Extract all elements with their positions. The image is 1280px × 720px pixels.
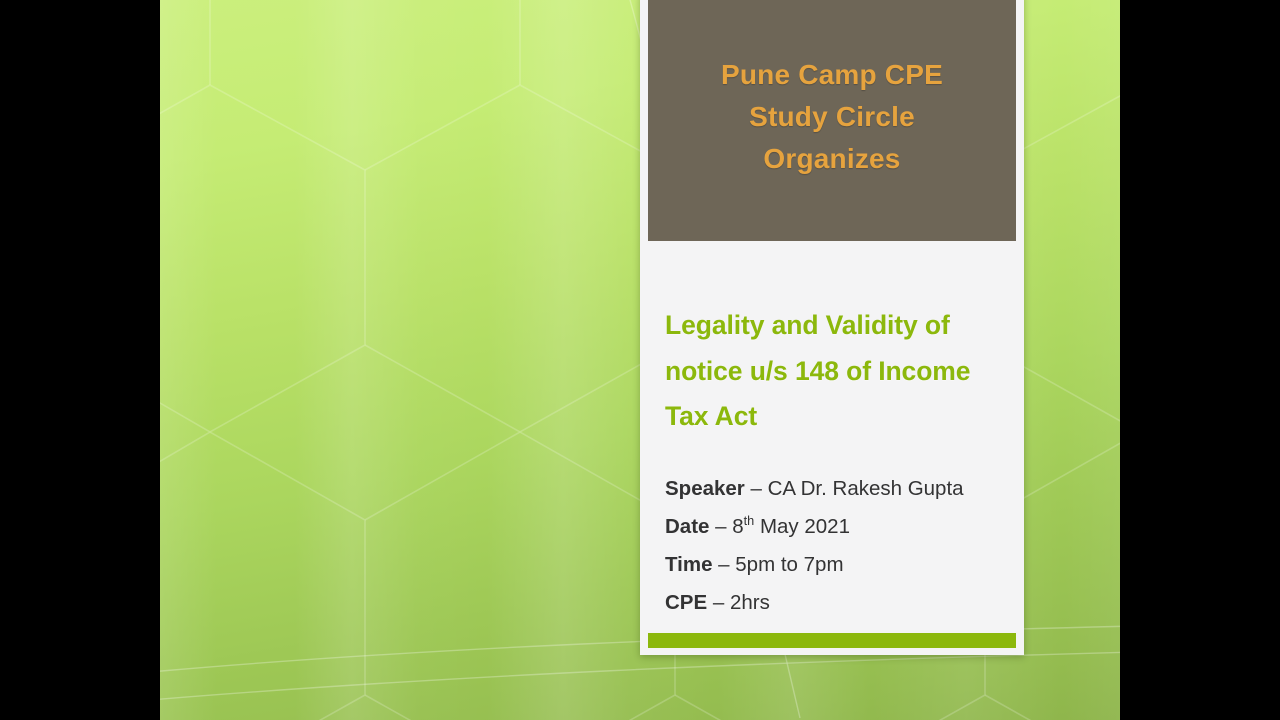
- detail-row-time: Time – 5pm to 7pm: [665, 546, 1000, 584]
- accent-bar: [648, 633, 1016, 648]
- organizer-line-3: Organizes: [721, 138, 943, 180]
- organizer-title: Pune Camp CPE Study Circle Organizes: [707, 54, 957, 180]
- detail-date-ordinal-suffix: th: [744, 513, 755, 528]
- detail-label-speaker: Speaker: [665, 477, 745, 500]
- content-card: Pune Camp CPE Study Circle Organizes Leg…: [640, 0, 1024, 655]
- detail-separator-speaker: –: [745, 477, 768, 500]
- letterbox-left: [0, 0, 160, 720]
- detail-date-month-year: May 2021: [754, 515, 850, 538]
- detail-row-cpe: CPE – 2hrs: [665, 584, 1000, 622]
- detail-separator-time: –: [712, 553, 735, 576]
- detail-row-date: Date – 8th May 2021: [665, 508, 1000, 546]
- detail-separator-cpe: –: [707, 591, 730, 614]
- organizer-line-2: Study Circle: [721, 96, 943, 138]
- detail-separator-date: –: [709, 515, 732, 538]
- detail-row-speaker: Speaker – CA Dr. Rakesh Gupta: [665, 470, 1000, 508]
- detail-label-date: Date: [665, 515, 709, 538]
- letterbox-right: [1120, 0, 1280, 720]
- detail-label-cpe: CPE: [665, 591, 707, 614]
- session-title: Legality and Validity of notice u/s 148 …: [665, 303, 1000, 440]
- slide-canvas: Pune Camp CPE Study Circle Organizes Leg…: [160, 0, 1120, 720]
- detail-value-speaker: CA Dr. Rakesh Gupta: [768, 477, 964, 500]
- session-title-line-3: Tax Act: [665, 401, 757, 431]
- detail-value-time: 5pm to 7pm: [735, 553, 843, 576]
- slide-stage: Pune Camp CPE Study Circle Organizes Leg…: [0, 0, 1280, 720]
- detail-value-cpe: 2hrs: [730, 591, 770, 614]
- organizer-header-band: Pune Camp CPE Study Circle Organizes: [648, 0, 1016, 241]
- detail-value-date: 8th May 2021: [732, 515, 850, 538]
- card-body: Legality and Validity of notice u/s 148 …: [640, 241, 1024, 622]
- detail-date-day: 8: [732, 515, 743, 538]
- session-title-line-2: notice u/s 148 of Income: [665, 356, 970, 386]
- organizer-line-1: Pune Camp CPE: [721, 54, 943, 96]
- session-details-list: Speaker – CA Dr. Rakesh Gupta Date – 8th…: [665, 470, 1000, 623]
- detail-label-time: Time: [665, 553, 712, 576]
- session-title-line-1: Legality and Validity of: [665, 310, 950, 340]
